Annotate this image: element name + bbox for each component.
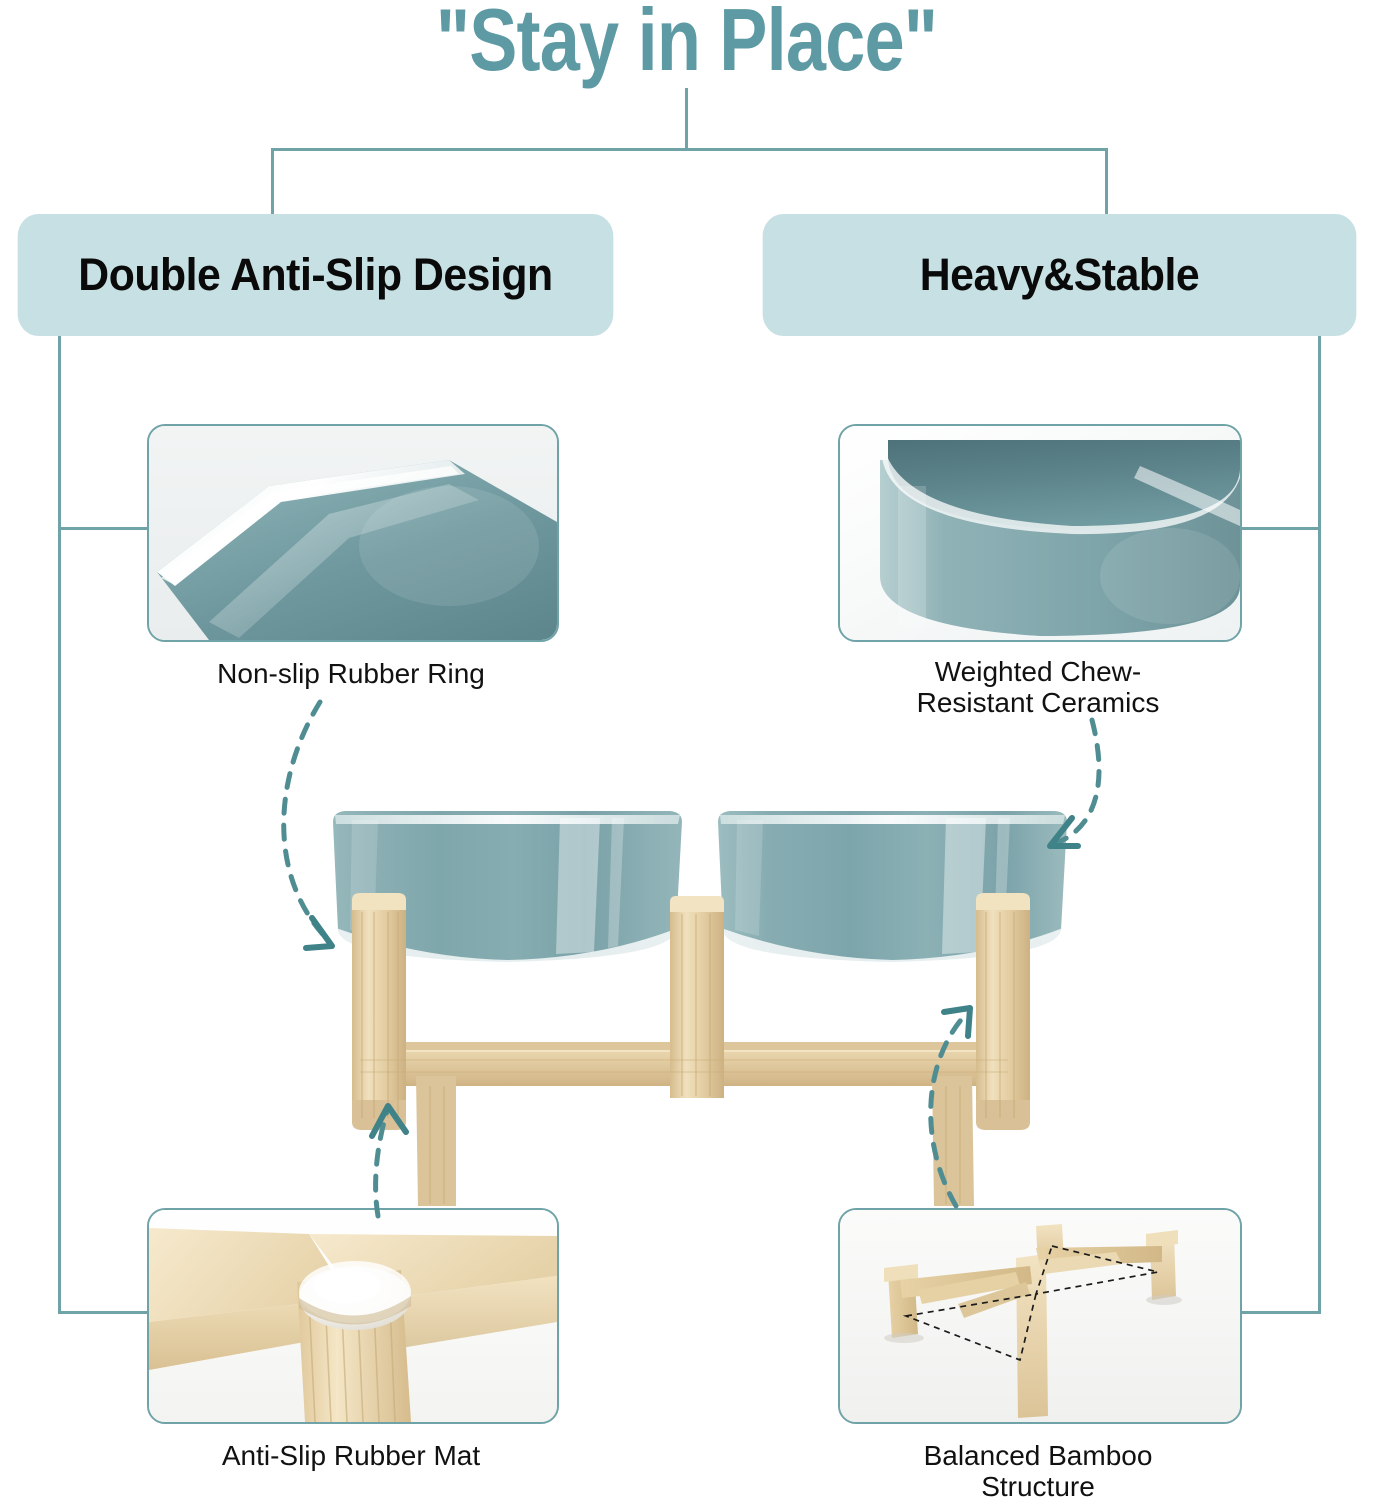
arrowhead-rubber-ring bbox=[306, 918, 332, 948]
arrow-rubber-ring-path bbox=[284, 702, 330, 942]
connector-drop-right bbox=[1105, 148, 1108, 220]
arrow-rubber-mat-path bbox=[376, 1108, 388, 1216]
rail-left-vertical bbox=[58, 336, 61, 1314]
ceramic-bowl-interior-photo bbox=[840, 426, 1240, 640]
header-label: Heavy&Stable bbox=[920, 249, 1199, 301]
rail-right-branch-top bbox=[1236, 527, 1321, 530]
rail-left-branch-bottom bbox=[58, 1311, 158, 1314]
arrowhead-ceramics bbox=[1050, 818, 1078, 846]
infographic-stage: "Stay in Place" Double Anti-Slip Design … bbox=[0, 0, 1373, 1500]
arrow-ceramics-path bbox=[1054, 720, 1099, 844]
connector-top-bar bbox=[271, 148, 1108, 151]
rail-right-vertical bbox=[1318, 336, 1321, 1314]
photo-card-balanced-bamboo-structure bbox=[838, 1208, 1242, 1424]
right-bowl bbox=[718, 811, 1067, 970]
connector-title-stem bbox=[685, 88, 688, 150]
connector-drop-left bbox=[271, 148, 274, 220]
left-bowl bbox=[333, 811, 682, 970]
caption-balanced-bamboo-structure: Balanced Bamboo Structure bbox=[838, 1440, 1238, 1503]
bamboo-leg-rubber-pad-photo bbox=[149, 1210, 557, 1422]
bamboo-stand bbox=[352, 893, 1030, 1206]
arrowhead-bamboo-structure bbox=[944, 1008, 970, 1036]
photo-card-non-slip-rubber-ring bbox=[147, 424, 559, 642]
header-double-anti-slip-design[interactable]: Double Anti-Slip Design bbox=[18, 214, 614, 336]
header-heavy-and-stable[interactable]: Heavy&Stable bbox=[763, 214, 1357, 336]
caption-weighted-ceramics: Weighted Chew- Resistant Ceramics bbox=[838, 656, 1238, 719]
caption-non-slip-rubber-ring: Non-slip Rubber Ring bbox=[147, 658, 555, 689]
caption-anti-slip-rubber-mat: Anti-Slip Rubber Mat bbox=[147, 1440, 555, 1471]
photo-card-weighted-ceramics bbox=[838, 424, 1242, 642]
rail-left-branch-top bbox=[58, 527, 158, 530]
rail-right-branch-bottom bbox=[1236, 1311, 1321, 1314]
bamboo-stand-triangulation-photo bbox=[840, 1210, 1240, 1422]
arrow-bamboo-structure-path bbox=[931, 1014, 966, 1206]
photo-card-anti-slip-rubber-mat bbox=[147, 1208, 559, 1424]
header-label: Double Anti-Slip Design bbox=[78, 249, 552, 301]
arrowhead-rubber-mat bbox=[372, 1106, 406, 1136]
ceramic-bowl-base-rubber-ring-photo bbox=[149, 426, 557, 640]
page-title: "Stay in Place" bbox=[124, 0, 1250, 86]
